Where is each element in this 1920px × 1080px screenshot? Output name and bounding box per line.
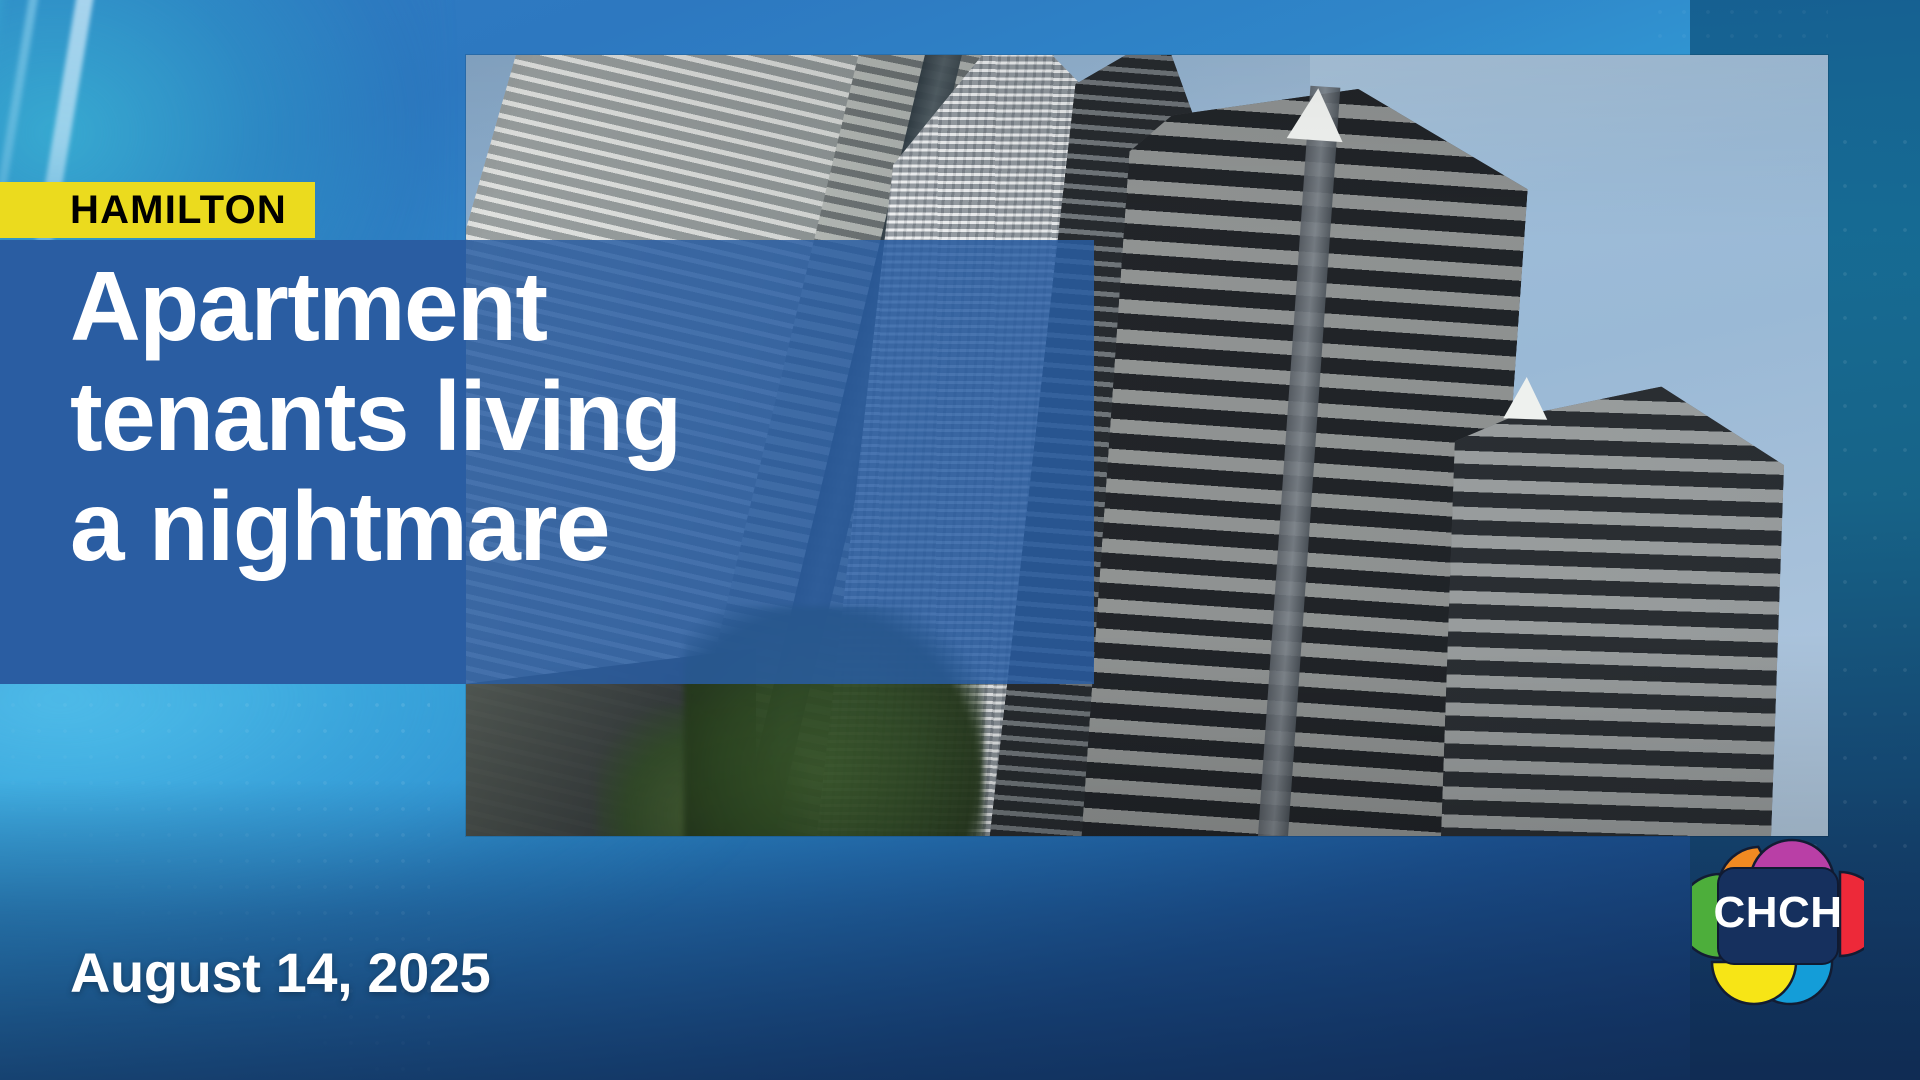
headline-line-2: tenants living <box>70 362 1080 472</box>
headline-line-3: a nightmare <box>70 472 1080 582</box>
headline-line-1: Apartment <box>70 252 1080 362</box>
headline: Apartment tenants living a nightmare <box>70 252 1080 581</box>
chch-logo: CHCH <box>1692 822 1864 1008</box>
location-badge-label: HAMILTON <box>70 190 287 230</box>
logo-wordmark: CHCH <box>1713 888 1842 937</box>
news-title-card: HAMILTON Apartment tenants living a nigh… <box>0 0 1920 1080</box>
broadcast-date: August 14, 2025 <box>70 940 490 1005</box>
location-badge: HAMILTON <box>0 182 315 238</box>
red-petal-icon <box>1840 872 1864 956</box>
